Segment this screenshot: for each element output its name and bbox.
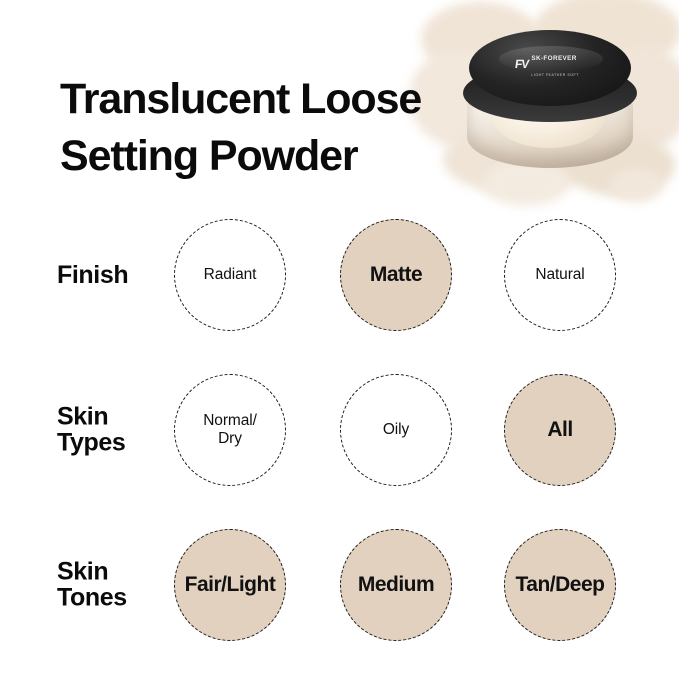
option-oily[interactable]: Oily bbox=[340, 374, 452, 486]
option-radiant[interactable]: Radiant bbox=[174, 219, 286, 331]
row-label-finish: Finish bbox=[57, 261, 128, 288]
brand-text-block: SK-FOREVER LIGHT FEATHER SOFT bbox=[531, 48, 611, 80]
option-label: Oily bbox=[383, 421, 409, 438]
option-matte[interactable]: Matte bbox=[340, 219, 452, 331]
attribute-rows: Finish Radiant Matte Natural Skin Types … bbox=[0, 197, 679, 662]
jar-lid bbox=[469, 30, 631, 106]
product-infographic: FV SK-FOREVER LIGHT FEATHER SOFT Translu… bbox=[0, 0, 679, 679]
option-label: All bbox=[547, 418, 572, 442]
option-label: Fair/Light bbox=[185, 573, 276, 597]
title-line-1: Translucent Loose bbox=[60, 71, 460, 128]
option-medium[interactable]: Medium bbox=[340, 529, 452, 641]
attribute-row-skin-tones: Skin Tones Fair/Light Medium Tan/Deep bbox=[0, 507, 679, 662]
option-label: Tan/Deep bbox=[516, 573, 605, 597]
brand-label: FV SK-FOREVER LIGHT FEATHER SOFT bbox=[515, 52, 611, 76]
jar-body bbox=[467, 76, 633, 168]
title-line-2: Setting Powder bbox=[60, 128, 460, 185]
option-natural[interactable]: Natural bbox=[504, 219, 616, 331]
brand-monogram-icon: FV bbox=[514, 58, 529, 70]
jar-rim bbox=[463, 64, 637, 122]
option-label: Radiant bbox=[204, 266, 257, 283]
option-label: Natural bbox=[535, 266, 584, 283]
option-label: Medium bbox=[358, 573, 434, 597]
jar-powder-fill bbox=[493, 86, 605, 148]
powder-jar: FV SK-FOREVER LIGHT FEATHER SOFT bbox=[459, 24, 641, 172]
attribute-row-finish: Finish Radiant Matte Natural bbox=[0, 197, 679, 352]
option-label: Matte bbox=[370, 263, 422, 287]
option-label: Normal/ Dry bbox=[203, 412, 257, 447]
option-fair-light[interactable]: Fair/Light bbox=[174, 529, 286, 641]
lid-sheen bbox=[499, 46, 603, 72]
option-tan-deep[interactable]: Tan/Deep bbox=[504, 529, 616, 641]
option-normal-dry[interactable]: Normal/ Dry bbox=[174, 374, 286, 486]
attribute-row-skin-types: Skin Types Normal/ Dry Oily All bbox=[0, 352, 679, 507]
option-all[interactable]: All bbox=[504, 374, 616, 486]
brand-name: SK-FOREVER bbox=[531, 55, 576, 62]
page-title: Translucent Loose Setting Powder bbox=[60, 71, 460, 185]
row-label-skin-tones: Skin Tones bbox=[57, 558, 127, 611]
row-label-skin-types: Skin Types bbox=[57, 403, 125, 456]
brand-tagline: LIGHT FEATHER SOFT bbox=[531, 73, 579, 77]
